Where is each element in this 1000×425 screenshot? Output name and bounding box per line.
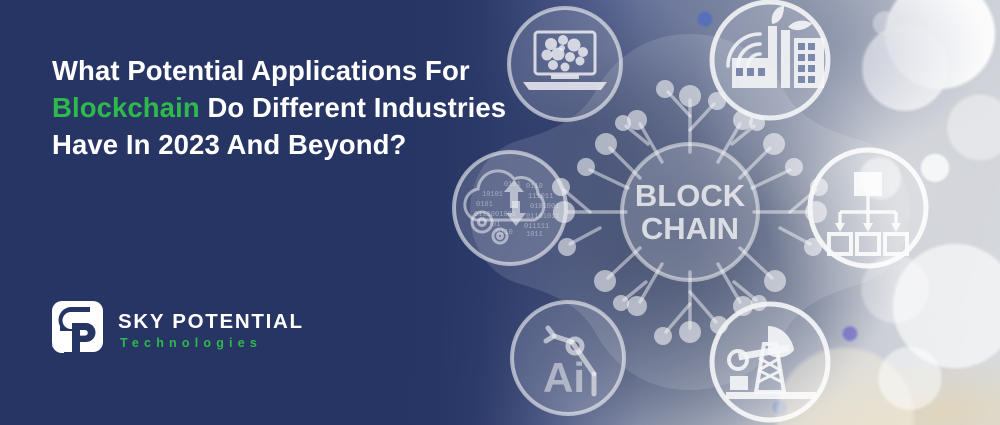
- headline-accent-word: Blockchain: [52, 92, 200, 123]
- svg-text:01101011: 01101011: [526, 213, 560, 221]
- node-robotics-ai: Ai: [512, 302, 624, 414]
- svg-text:111011: 111011: [528, 193, 553, 201]
- headline-line-2-rest: Do Different Industries: [200, 92, 506, 123]
- headline-line-3: Have In 2023 And Beyond?: [52, 126, 522, 163]
- svg-text:10101: 10101: [482, 191, 503, 199]
- node-ai-laptop: [509, 8, 621, 120]
- sp-monogram-icon: [50, 299, 105, 359]
- node-smart-factory: [712, 2, 828, 118]
- brand-logo[interactable]: SKY POTENTIAL Technologies: [50, 299, 304, 359]
- node-cloud-data: 01010110 10101111011 01010101001 0111001…: [454, 152, 566, 264]
- blockchain-banner: BLOCK CHAIN: [0, 0, 1000, 425]
- logo-wordmark: SKY POTENTIAL Technologies: [118, 309, 304, 350]
- hub-label-line2: CHAIN: [641, 211, 739, 246]
- svg-text:1011: 1011: [526, 231, 543, 239]
- svg-text:0110: 0110: [526, 183, 543, 191]
- svg-text:0101: 0101: [476, 201, 493, 209]
- blockchain-hub: BLOCK CHAIN: [622, 144, 758, 280]
- svg-text:0101: 0101: [504, 181, 521, 189]
- svg-text:0101001: 0101001: [530, 203, 559, 211]
- headline-line-1: What Potential Applications For: [52, 52, 522, 89]
- node-oil-gas: [712, 304, 828, 420]
- page-title: What Potential Applications For Blockcha…: [52, 52, 522, 163]
- headline-line-2: Blockchain Do Different Industries: [52, 89, 522, 126]
- hub-label-line1: BLOCK: [635, 178, 746, 213]
- logo-subtitle: Technologies: [118, 337, 304, 350]
- ai-caption: Ai: [543, 354, 585, 401]
- node-distribution: [810, 150, 926, 266]
- svg-text:011111: 011111: [524, 223, 549, 231]
- logo-title: SKY POTENTIAL: [118, 312, 304, 333]
